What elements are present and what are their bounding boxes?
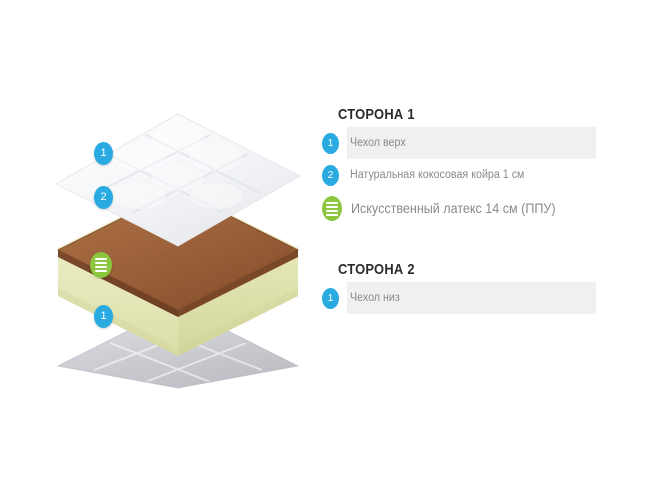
- legend-label-coconut-coir: Натуральная кокосовая койра 1 см: [350, 169, 524, 181]
- latex-bars-icon: [95, 258, 107, 272]
- badge-number-2-coir: 2: [322, 165, 339, 186]
- legend-label-cover-top: Чехол верх: [350, 137, 406, 149]
- illustration-badge-cover-top: 1: [94, 142, 113, 165]
- legend-panel: СТОРОНА 1 1 Чехол верх 2 Натуральная кок…: [320, 100, 650, 314]
- badge-number-1-top: 1: [322, 133, 339, 154]
- legend-row-cover-top[interactable]: 1 Чехол верх: [320, 127, 650, 159]
- legend-heading-side-1: СТОРОНА 1: [338, 106, 606, 123]
- mattress-layers-svg: [50, 100, 310, 390]
- legend-label-cover-bottom: Чехол низ: [350, 292, 400, 304]
- illustration-badge-coir: 2: [94, 186, 113, 209]
- diagram-canvas: 1 2 1 СТОРОНА 1 1 Чехол верх 2 Натуральн…: [0, 0, 672, 504]
- legend-label-artificial-latex: Искусственный латекс 14 см (ППУ): [351, 201, 556, 216]
- illustration-badge-cover-bottom: 1: [94, 305, 113, 328]
- mattress-layers-illustration: 1 2 1: [50, 100, 310, 390]
- layer-cover-top: [56, 114, 300, 246]
- legend-heading-side-2: СТОРОНА 2: [338, 261, 606, 278]
- latex-bars-icon: [326, 202, 338, 216]
- legend-row-coconut-coir[interactable]: 2 Натуральная кокосовая койра 1 см: [320, 159, 650, 191]
- illustration-badge-latex: [90, 252, 112, 278]
- badge-number-1-bottom: 1: [322, 288, 339, 309]
- legend-row-cover-bottom[interactable]: 1 Чехол низ: [320, 282, 650, 314]
- legend-row-artificial-latex[interactable]: Искусственный латекс 14 см (ППУ): [320, 191, 650, 225]
- badge-bars-latex: [322, 196, 342, 221]
